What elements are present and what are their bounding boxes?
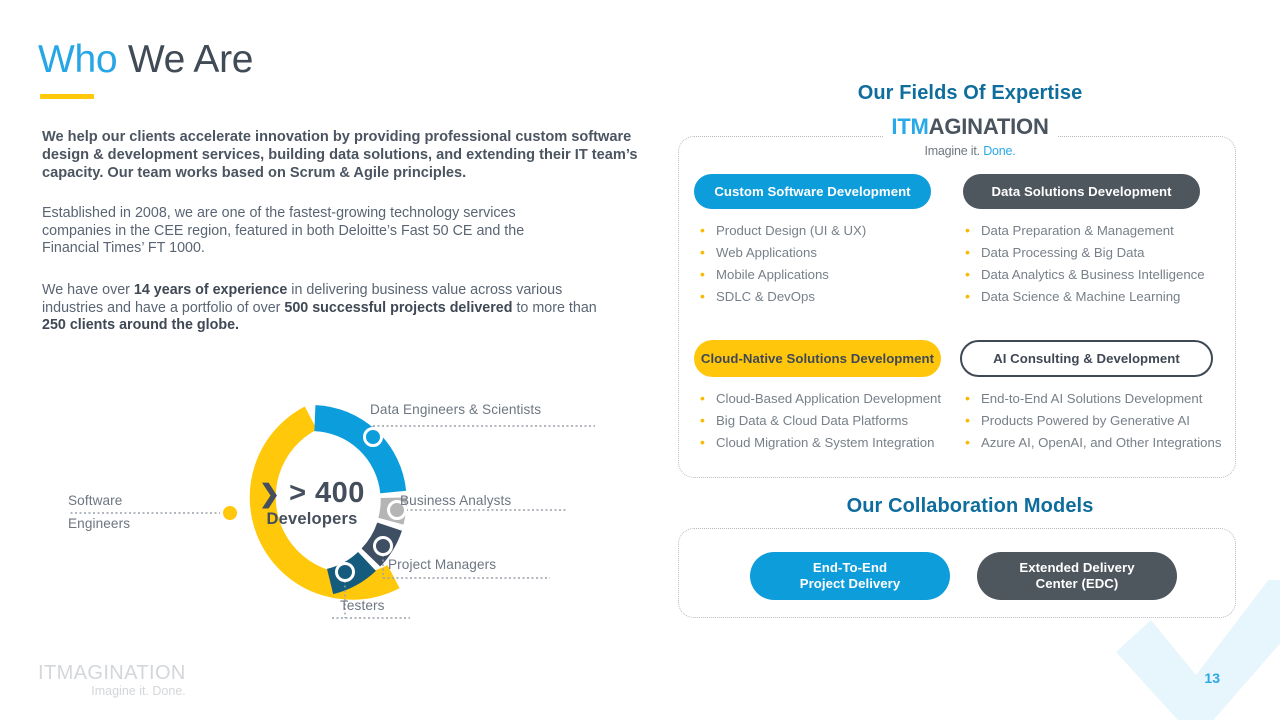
left-column: Who We Are We help our clients accelerat… (0, 0, 660, 720)
donut-center-value: ❯ > 400 (229, 478, 395, 509)
footer-logo-tagline: Imagine it. Done. (38, 684, 186, 698)
donut-label-testers: Testers (340, 598, 385, 613)
collaboration-model-extended-delivery-center[interactable]: Extended Delivery Center (EDC) (977, 552, 1177, 600)
footer-logo: ITMAGINATION Imagine it. Done. (38, 663, 186, 698)
list-item: Product Design (UI & UX) (698, 220, 866, 242)
itmagination-logo-tagline: Imagine it. Done. (891, 140, 1048, 162)
list-item: Products Powered by Generative AI (963, 410, 1221, 432)
donut-center-text: ❯ > 400 Developers (229, 478, 395, 529)
page-number: 13 (1204, 670, 1220, 686)
expertise-list-data-solutions-development: Data Preparation & Management Data Proce… (963, 220, 1205, 308)
list-item: Data Science & Machine Learning (963, 286, 1205, 308)
expertise-list-ai-consulting-development: End-to-End AI Solutions Development Prod… (963, 388, 1221, 454)
expertise-list-custom-software-development: Product Design (UI & UX) Web Application… (698, 220, 866, 308)
logo-tagline-done: Done. (983, 144, 1015, 158)
donut-label-software-engineers-line1: Software (68, 493, 122, 508)
collab-model-1-line1: Extended Delivery (1019, 560, 1134, 576)
expertise-card-title-custom-software-development[interactable]: Custom Software Development (694, 174, 931, 209)
list-item: SDLC & DevOps (698, 286, 866, 308)
expertise-list-cloud-native-solutions-development: Cloud-Based Application Development Big … (698, 388, 941, 454)
donut-label-business-analysts: Business Analysts (400, 493, 511, 508)
collaboration-model-end-to-end-project-delivery[interactable]: End-To-End Project Delivery (750, 552, 950, 600)
expertise-card-title-data-solutions-development[interactable]: Data Solutions Development (963, 174, 1200, 209)
logo-it-text: IT (891, 114, 910, 139)
developers-donut-chart: ❯ > 400 Developers Software Engineers Da… (40, 380, 620, 640)
callout-data-engineers (365, 426, 596, 446)
logo-rest-text: AGINATION (929, 114, 1049, 139)
p3-bold-clients: 250 clients around the globe. (42, 317, 239, 333)
right-column: Our Fields Of Expertise ITMAGINATION Ima… (660, 0, 1280, 720)
expertise-heading: Our Fields Of Expertise (660, 82, 1280, 105)
list-item: End-to-End AI Solutions Development (963, 388, 1221, 410)
intro-paragraph-2: Established in 2008, we are one of the f… (42, 205, 572, 258)
collaboration-heading: Our Collaboration Models (660, 495, 1280, 518)
donut-label-software-engineers-line2: Engineers (68, 516, 130, 531)
intro-lead-paragraph: We help our clients accelerate innovatio… (42, 128, 642, 182)
list-item: Cloud-Based Application Development (698, 388, 941, 410)
logo-tagline-a: Imagine it. (924, 144, 983, 158)
p3-bold-experience: 14 years of experience (134, 282, 287, 298)
list-item: Web Applications (698, 242, 866, 264)
expertise-card-title-ai-consulting-development[interactable]: AI Consulting & Development (960, 340, 1213, 377)
list-item: Data Analytics & Business Intelligence (963, 264, 1205, 286)
expertise-card-title-cloud-native-solutions-development[interactable]: Cloud-Native Solutions Development (694, 340, 941, 377)
intro-paragraph-3: We have over 14 years of experience in d… (42, 282, 602, 335)
collab-model-1-line2: Center (EDC) (1019, 576, 1134, 592)
list-item: Mobile Applications (698, 264, 866, 286)
chevron-right-icon: ❯ (259, 480, 280, 508)
list-item: Cloud Migration & System Integration (698, 432, 941, 454)
list-item: Data Preparation & Management (963, 220, 1205, 242)
list-item: Data Processing & Big Data (963, 242, 1205, 264)
collab-model-0-line1: End-To-End (800, 560, 901, 576)
donut-label-data-engineers: Data Engineers & Scientists (370, 402, 541, 417)
donut-label-project-managers: Project Managers (388, 557, 496, 572)
page-title: Who We Are (38, 38, 253, 82)
donut-center-label: Developers (229, 510, 395, 529)
p3-text-a: We have over (42, 282, 134, 298)
slide-who-we-are: Who We Are We help our clients accelerat… (0, 0, 1280, 720)
title-underline-rule (40, 94, 94, 99)
footer-logo-name: ITMAGINATION (38, 663, 186, 684)
p3-bold-projects: 500 successful projects delivered (284, 300, 512, 316)
collab-model-0-line2: Project Delivery (800, 576, 901, 592)
itmagination-logo: ITMAGINATION Imagine it. Done. (660, 116, 1280, 162)
page-title-rest: We Are (117, 38, 253, 81)
donut-center-number: > 400 (289, 477, 365, 509)
list-item: Azure AI, OpenAI, and Other Integrations (963, 432, 1221, 454)
p3-text-e: to more than (512, 300, 596, 316)
itmagination-logo-name: ITMAGINATION Imagine it. Done. (883, 116, 1056, 162)
logo-m-text: M (911, 114, 929, 139)
page-title-accent: Who (38, 38, 117, 81)
list-item: Big Data & Cloud Data Platforms (698, 410, 941, 432)
